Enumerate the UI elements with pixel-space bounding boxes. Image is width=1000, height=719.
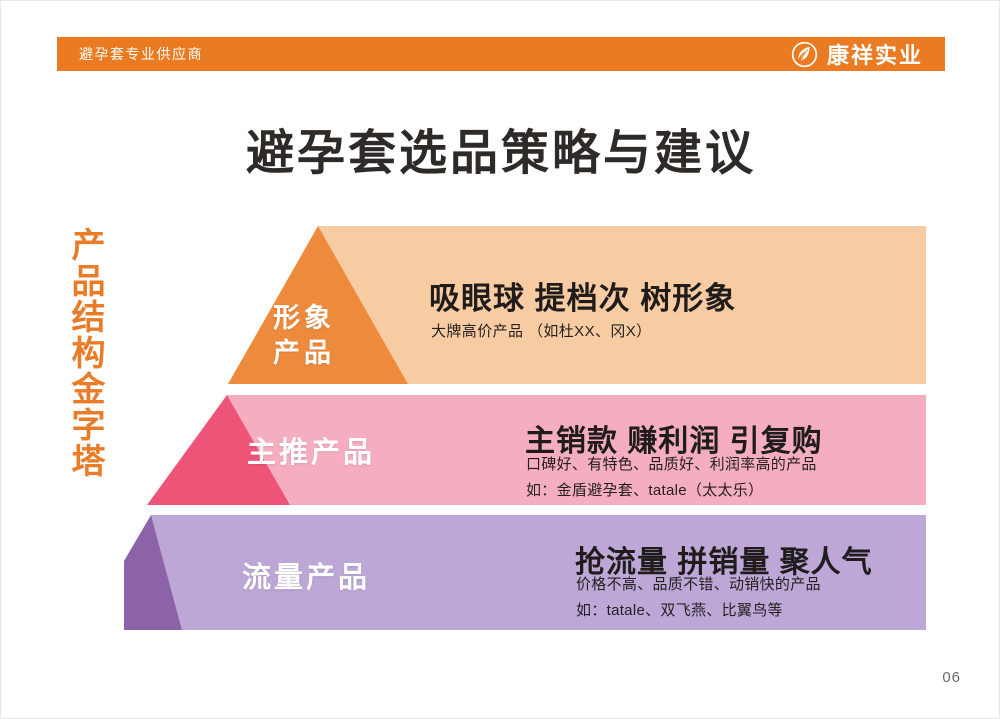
product-structure-pyramid xyxy=(1,1,1000,719)
tier-2-subtext-line-1: 口碑好、有特色、品质好、利润率高的产品 xyxy=(526,453,817,474)
header-tagline: 避孕套专业供应商 xyxy=(79,37,203,71)
brand-name: 康祥实业 xyxy=(827,38,923,70)
tier-1-subtext-line-1: 大牌高价产品 （如杜XX、冈X） xyxy=(431,320,652,341)
slide-canvas: 避孕套专业供应商 康祥实业 避孕套选品策略与建议 产品结构金字塔 形象 产品 吸… xyxy=(0,0,1000,719)
tier-1-label-line-2: 产品 xyxy=(273,336,335,371)
tier-3-dark-trapezoid xyxy=(124,515,182,630)
tier-2-label: 主推产品 xyxy=(247,429,375,471)
pyramid-side-label: 产品结构金字塔 xyxy=(59,227,105,479)
tier-1-label: 形象 产品 xyxy=(273,301,335,371)
page-title: 避孕套选品策略与建议 xyxy=(1,113,1000,183)
tier-1-headline: 吸眼球 提档次 树形象 xyxy=(429,273,736,318)
tier-3-label: 流量产品 xyxy=(242,554,370,596)
brand-lockup: 康祥实业 xyxy=(791,37,923,71)
tier-3-subtext-line-1: 价格不高、品质不错、动销快的产品 xyxy=(576,573,821,594)
tier-2-subtext-line-2: 如：金盾避孕套、tatale（太太乐） xyxy=(526,479,763,500)
tier-3-subtext-line-2: 如：tatale、双飞燕、比翼鸟等 xyxy=(576,599,783,620)
leaf-swirl-logo-icon xyxy=(791,41,818,68)
page-number: 06 xyxy=(942,669,961,686)
tier-1-label-line-1: 形象 xyxy=(273,301,335,336)
header-bar: 避孕套专业供应商 康祥实业 xyxy=(57,37,945,71)
